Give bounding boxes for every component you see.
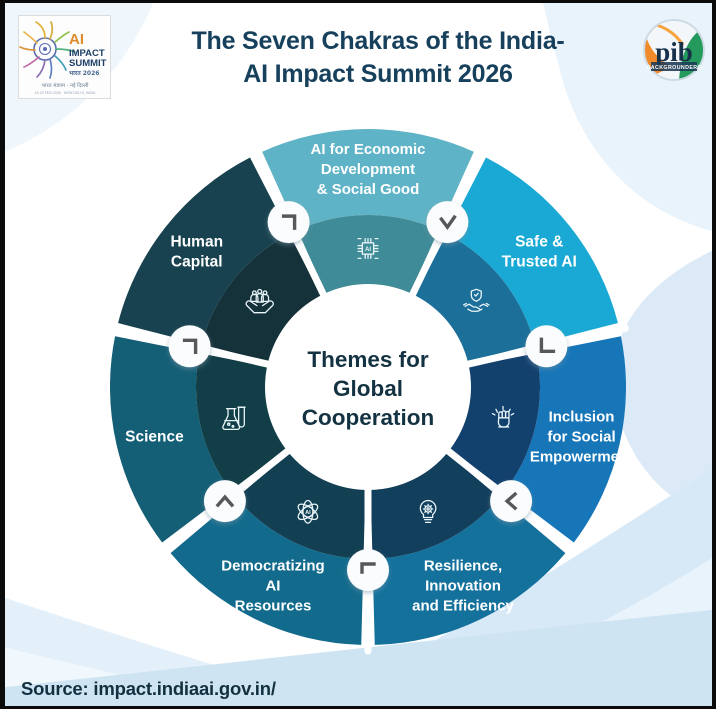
logo-line3: SUMMIT	[69, 58, 107, 69]
segment-label-line: AI	[265, 577, 280, 594]
svg-text:AI: AI	[305, 510, 311, 516]
node-circle[interactable]	[268, 201, 310, 243]
pib-caption: BACKGROUNDERS	[647, 65, 702, 71]
segment-label-line: Safe &	[515, 233, 563, 250]
hub-line1: Themes for	[307, 347, 429, 372]
segment-label-line: Empowerment	[530, 449, 633, 466]
svg-text:AI: AI	[365, 247, 371, 253]
node-marker-ai-for-economic-development[interactable]	[268, 201, 310, 243]
header: AI IMPACT SUMMIT भारत 2026 भारत मंडपम · …	[5, 3, 712, 115]
segment-label-line: & Social Good	[317, 181, 420, 198]
segment-label-line: Resilience,	[424, 557, 502, 574]
segment-label-line: Resources	[235, 597, 312, 614]
logo-caption2: 19-20 FEB 2026 · NEW DELHI, INDIA	[35, 91, 97, 95]
hub-line3: Cooperation	[302, 405, 435, 430]
page-title: The Seven Chakras of the India- AI Impac…	[123, 25, 633, 90]
node-circle[interactable]	[169, 325, 211, 367]
node-marker-inclusion-for-social-empowerment[interactable]	[525, 325, 567, 367]
node-circle[interactable]	[426, 201, 468, 243]
segment-label-line: Inclusion	[549, 409, 615, 426]
pib-logo-art: pib BACKGROUNDERS	[641, 17, 707, 83]
ai-impact-summit-logo-art: AI IMPACT SUMMIT भारत 2026 भारत मंडपम · …	[19, 16, 112, 100]
node-marker-safe-and-trusted-ai[interactable]	[426, 201, 468, 243]
segment-label-resilience-innovation-and-efficiency: Resilience,Innovationand Efficiency	[412, 557, 514, 614]
node-circle[interactable]	[490, 480, 532, 522]
segment-label-line: Development	[321, 161, 415, 178]
node-circle[interactable]	[204, 480, 246, 522]
hub-line2: Global	[333, 376, 403, 401]
node-marker-human-capital[interactable]	[169, 325, 211, 367]
logo-line4: भारत 2026	[69, 70, 99, 77]
source-caption: Source: impact.indiaai.gov.in/	[21, 678, 276, 700]
segment-label-line: Trusted AI	[502, 253, 577, 270]
seven-chakras-wheel: AIAI Themes for Global Cooperation AI fo…	[83, 115, 653, 660]
segment-label-line: Democratizing	[221, 557, 324, 574]
segment-label-line: AI for Economic	[310, 141, 425, 158]
segment-label-line: Capital	[171, 253, 223, 270]
node-circle[interactable]	[347, 549, 389, 591]
logo-line1: AI	[69, 31, 84, 48]
segment-label-line: and Efficiency	[412, 597, 514, 614]
node-marker-science[interactable]	[204, 480, 246, 522]
logo-caption1: भारत मंडपम · नई दिल्ली	[42, 82, 90, 89]
node-circle[interactable]	[525, 325, 567, 367]
segment-label-line: Innovation	[425, 577, 501, 594]
segment-label-science: Science	[125, 429, 184, 446]
page-title-line1: The Seven Chakras of the India-	[123, 25, 633, 58]
segment-label-line: for Social	[547, 429, 615, 446]
wheel-hub: Themes for Global Cooperation	[265, 284, 471, 490]
segment-label-line: Science	[125, 429, 184, 446]
ai-impact-summit-logo: AI IMPACT SUMMIT भारत 2026 भारत मंडपम · …	[18, 15, 111, 99]
node-marker-resilience-innovation-and-efficiency[interactable]	[490, 480, 532, 522]
chakra-swirl-icon	[20, 22, 75, 78]
page-title-line2: AI Impact Summit 2026	[123, 58, 633, 91]
segment-label-line: Human	[171, 233, 224, 250]
node-marker-democratizing-ai-resources[interactable]	[347, 549, 389, 591]
infographic-frame: AI IMPACT SUMMIT भारत 2026 भारत मंडपम · …	[0, 0, 716, 709]
pib-backgrounders-logo: pib BACKGROUNDERS	[641, 17, 707, 83]
segment-label-ai-for-economic-development: AI for EconomicDevelopment& Social Good	[310, 141, 425, 198]
